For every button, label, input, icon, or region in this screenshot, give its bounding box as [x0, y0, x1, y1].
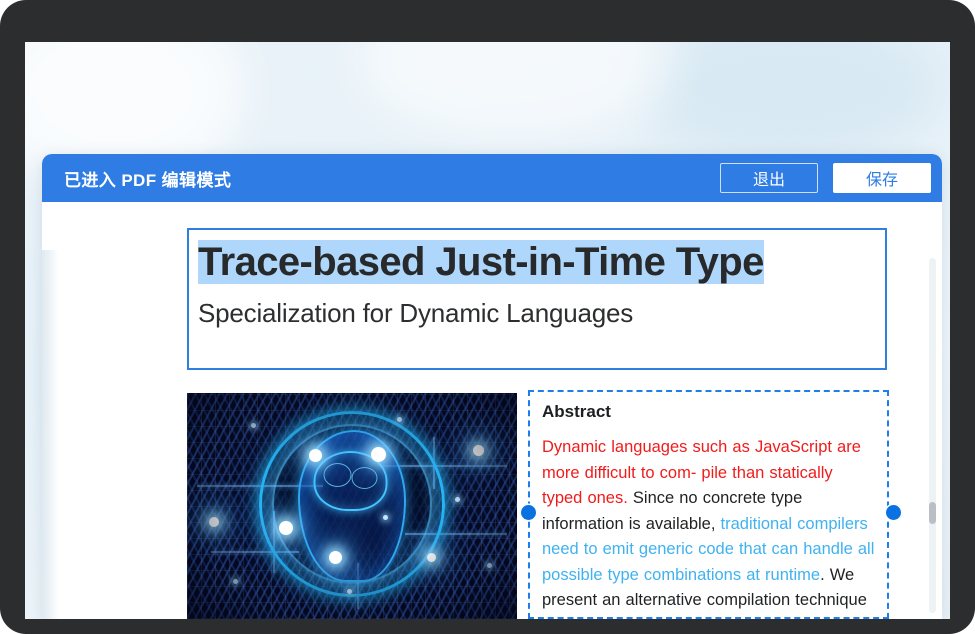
abstract-text-box[interactable]: Abstract Dynamic languages such as JavaS… [528, 390, 889, 619]
pdf-document-page[interactable]: Trace-based Just-in-Time Type Specializa… [42, 202, 942, 619]
page-title: Trace-based Just-in-Time Type [198, 240, 764, 284]
background-glow-right [640, 42, 940, 162]
pdf-editor-card: 已进入 PDF 编辑模式 退出 保存 Trace-based Just-in-T… [42, 154, 942, 619]
device-bezel: 已进入 PDF 编辑模式 退出 保存 Trace-based Just-in-T… [0, 0, 975, 634]
exit-button[interactable]: 退出 [720, 163, 818, 193]
ai-brain-circuit-image [187, 393, 517, 619]
paper-title-line: Trace-based Just-in-Time Type [198, 238, 875, 287]
abstract-heading: Abstract [542, 402, 875, 422]
document-figure[interactable] [187, 393, 517, 619]
selection-handle-left[interactable] [521, 505, 536, 520]
edit-mode-status-label: 已进入 PDF 编辑模式 [64, 166, 231, 191]
selection-handle-right[interactable] [886, 505, 901, 520]
pdf-edit-mode-toolbar: 已进入 PDF 编辑模式 退出 保存 [42, 154, 942, 202]
background-glow-center [355, 42, 675, 142]
title-text-box[interactable]: Trace-based Just-in-Time Type Specializa… [187, 228, 887, 370]
document-scrollbar[interactable] [929, 258, 936, 613]
save-button[interactable]: 保存 [833, 163, 931, 193]
screen-viewport: 已进入 PDF 编辑模式 退出 保存 Trace-based Just-in-T… [25, 42, 950, 619]
page-gutter [42, 250, 59, 619]
image-vignette [187, 393, 517, 619]
page-subtitle: Specialization for Dynamic Languages [198, 298, 875, 329]
toolbar-actions: 退出 保存 [720, 163, 931, 193]
abstract-body: Dynamic languages such as JavaScript are… [542, 435, 875, 619]
document-scrollbar-thumb[interactable] [929, 502, 936, 524]
